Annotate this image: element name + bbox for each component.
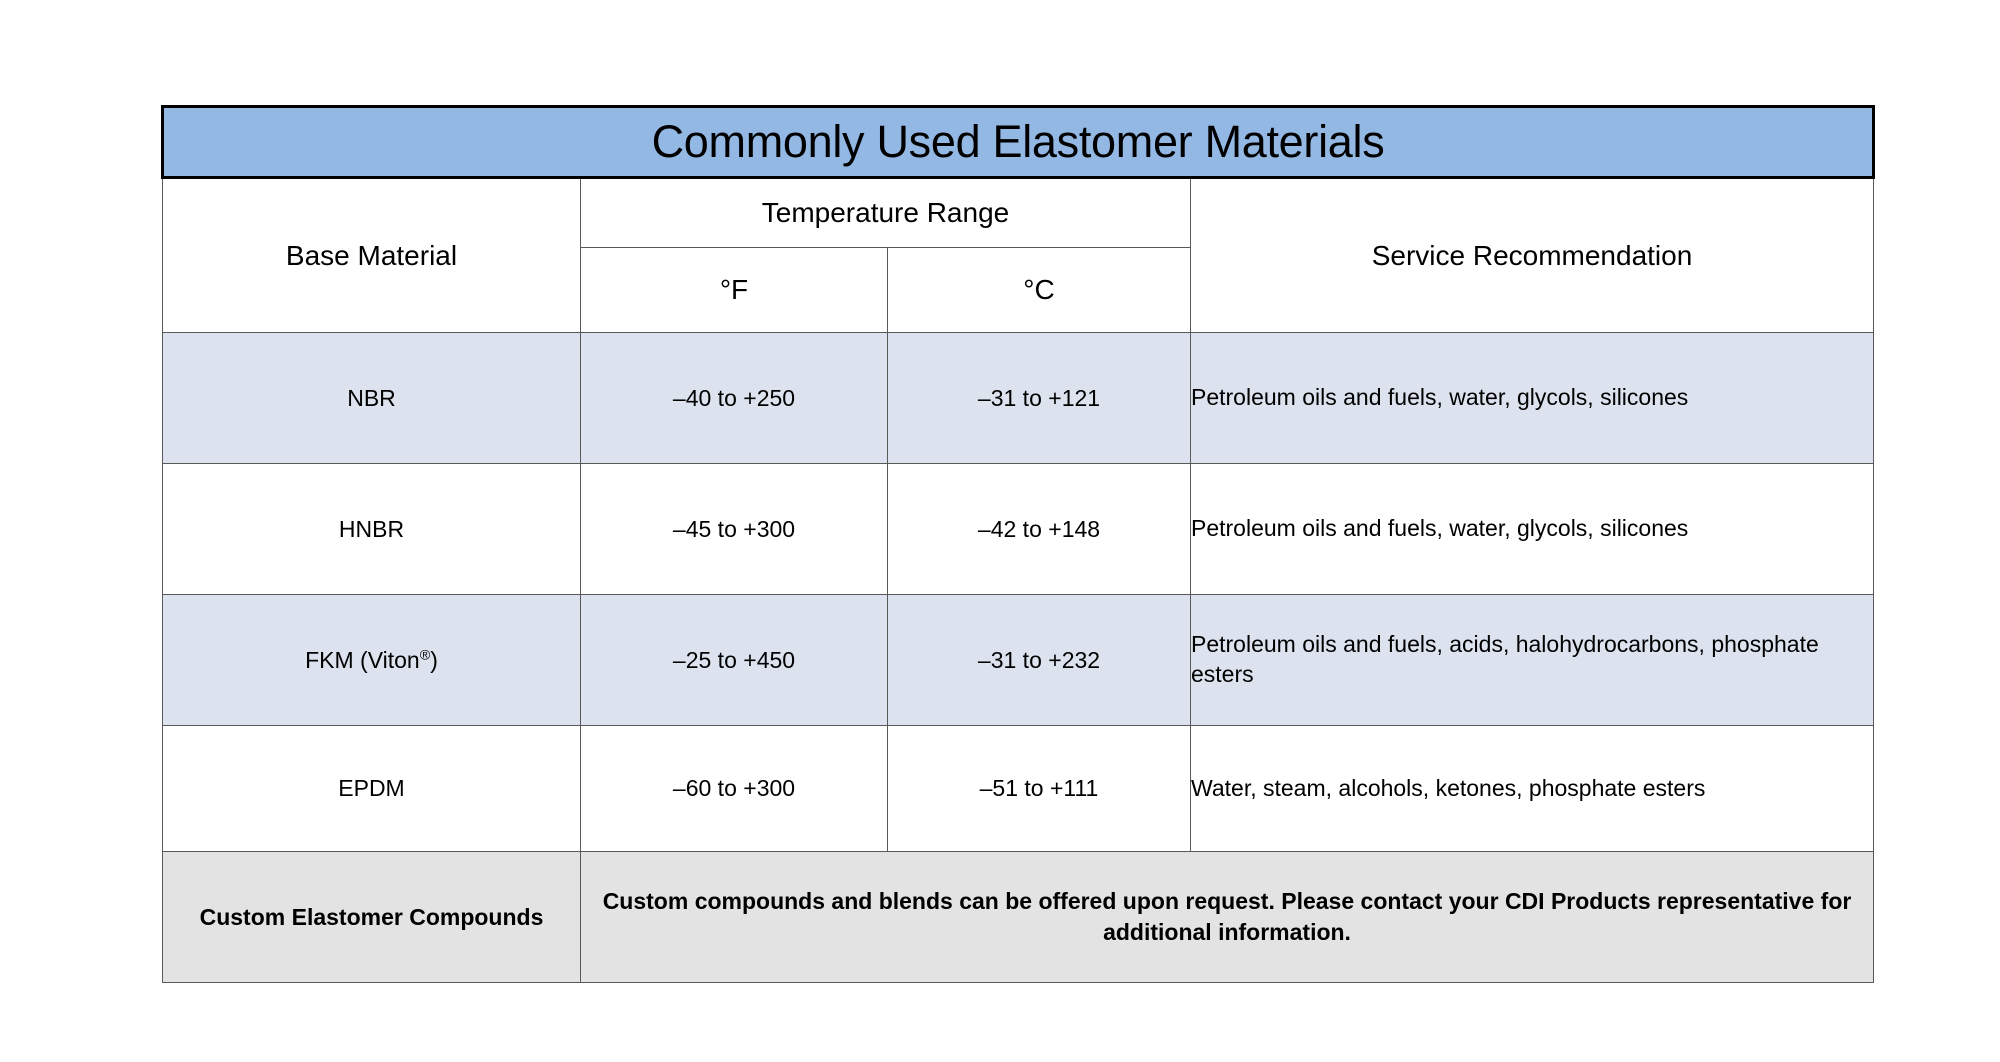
table-title-row: Commonly Used Elastomer Materials <box>163 107 1874 178</box>
table-row: HNBR –45 to +300 –42 to +148 Petroleum o… <box>163 464 1874 595</box>
cell-base-material: NBR <box>163 333 581 464</box>
column-header-temperature-range: Temperature Range <box>581 178 1191 248</box>
cell-temperature-fahrenheit: –45 to +300 <box>581 464 888 595</box>
cell-service-recommendation: Water, steam, alcohols, ketones, phospha… <box>1191 726 1874 852</box>
cell-service-recommendation: Petroleum oils and fuels, water, glycols… <box>1191 333 1874 464</box>
cell-temperature-fahrenheit: –40 to +250 <box>581 333 888 464</box>
column-header-fahrenheit: °F <box>581 248 888 333</box>
cell-base-material: HNBR <box>163 464 581 595</box>
table-row: EPDM –60 to +300 –51 to +111 Water, stea… <box>163 726 1874 852</box>
cell-base-material-suffix: ) <box>430 647 438 673</box>
column-header-service-recommendation: Service Recommendation <box>1191 178 1874 333</box>
elastomer-table-container: Commonly Used Elastomer Materials Base M… <box>161 105 1872 983</box>
cell-temperature-celsius: –31 to +232 <box>888 595 1191 726</box>
cell-base-material-text: FKM (Viton <box>305 647 420 673</box>
cell-temperature-fahrenheit: –60 to +300 <box>581 726 888 852</box>
table-row: NBR –40 to +250 –31 to +121 Petroleum oi… <box>163 333 1874 464</box>
table-row: FKM (Viton®) –25 to +450 –31 to +232 Pet… <box>163 595 1874 726</box>
column-header-base-material: Base Material <box>163 178 581 333</box>
table-footer-row: Custom Elastomer Compounds Custom compou… <box>163 852 1874 983</box>
cell-temperature-celsius: –42 to +148 <box>888 464 1191 595</box>
footer-label: Custom Elastomer Compounds <box>163 852 581 983</box>
cell-base-material: FKM (Viton®) <box>163 595 581 726</box>
cell-temperature-celsius: –31 to +121 <box>888 333 1191 464</box>
cell-base-material: EPDM <box>163 726 581 852</box>
footer-note: Custom compounds and blends can be offer… <box>581 852 1874 983</box>
cell-service-recommendation: Petroleum oils and fuels, acids, halohyd… <box>1191 595 1874 726</box>
header-row-primary: Base Material Temperature Range Service … <box>163 178 1874 248</box>
registered-trademark-icon: ® <box>420 647 431 663</box>
table-title: Commonly Used Elastomer Materials <box>163 107 1874 178</box>
column-header-celsius: °C <box>888 248 1191 333</box>
page-root: Commonly Used Elastomer Materials Base M… <box>0 0 2000 1062</box>
cell-service-recommendation: Petroleum oils and fuels, water, glycols… <box>1191 464 1874 595</box>
cell-temperature-celsius: –51 to +111 <box>888 726 1191 852</box>
elastomer-materials-table: Commonly Used Elastomer Materials Base M… <box>161 105 1875 983</box>
cell-temperature-fahrenheit: –25 to +450 <box>581 595 888 726</box>
